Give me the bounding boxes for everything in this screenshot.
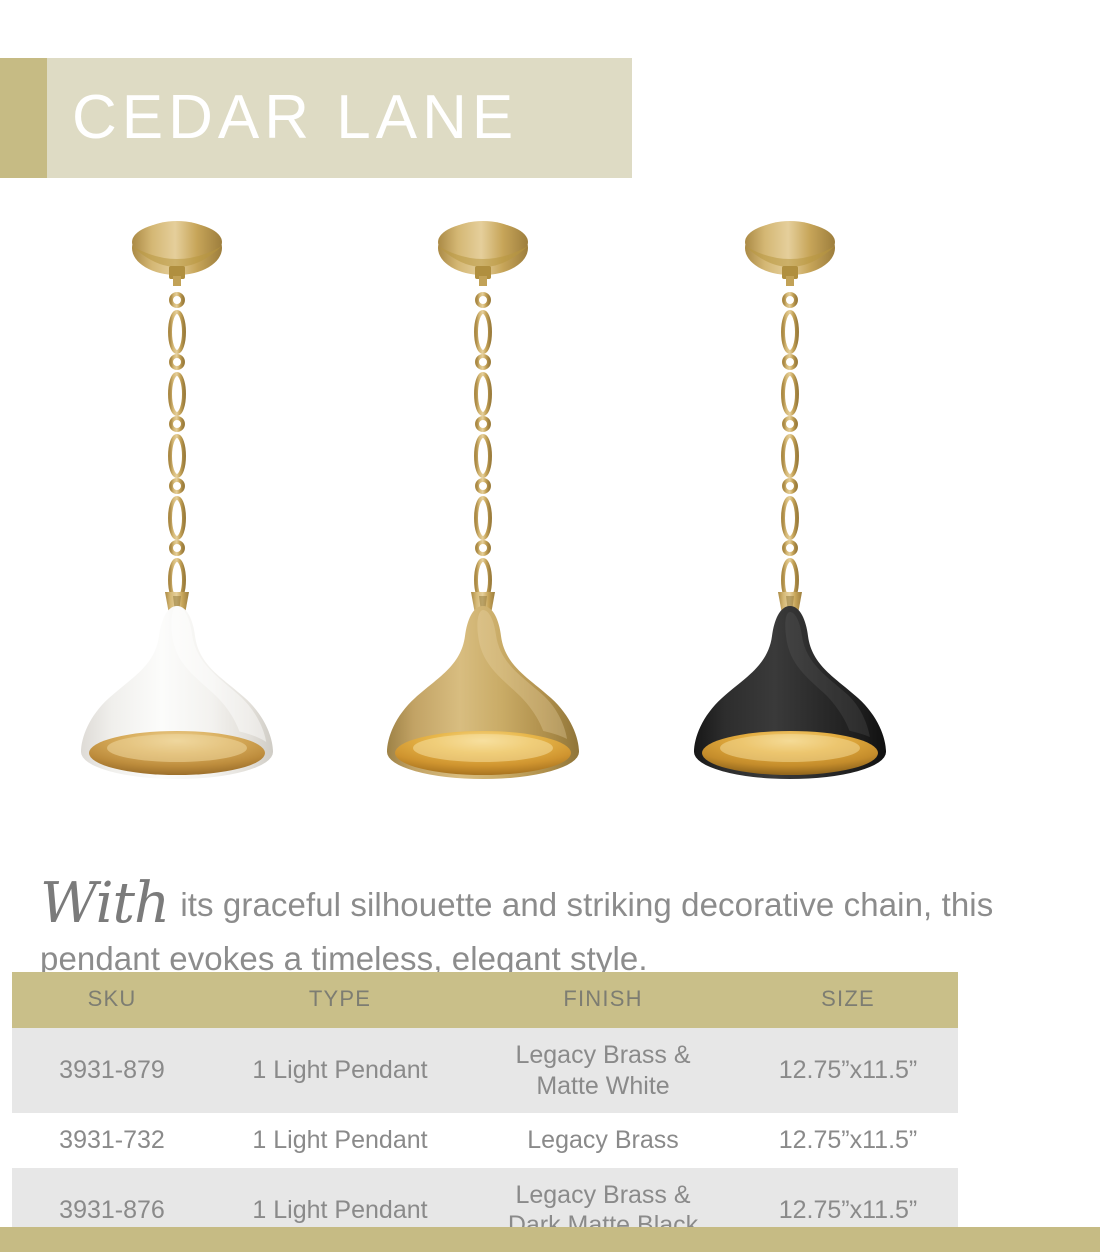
footer-band	[0, 1227, 1100, 1252]
cell-sku: 3931-879	[12, 1028, 212, 1113]
cell-sku: 3931-732	[12, 1113, 212, 1168]
spec-table: SKU TYPE FINISH SIZE 3931-879 1 Light Pe…	[12, 972, 958, 1252]
description-body: its graceful silhouette and striking dec…	[40, 886, 993, 977]
column-header-finish: FINISH	[468, 972, 738, 1028]
header-banner: CEDAR LANE	[0, 58, 632, 178]
cell-size: 12.75”x11.5”	[738, 1113, 958, 1168]
matte-white-pendant	[27, 200, 327, 820]
column-header-sku: SKU	[12, 972, 212, 1028]
table-row: 3931-732 1 Light Pendant Legacy Brass 12…	[12, 1113, 958, 1168]
product-description: With its graceful silhouette and strikin…	[40, 878, 1000, 987]
column-header-size: SIZE	[738, 972, 958, 1028]
table-header-row: SKU TYPE FINISH SIZE	[12, 972, 958, 1028]
product-image-row	[0, 200, 1100, 820]
cell-finish: Legacy Brass	[468, 1113, 738, 1168]
spec-sheet-page: CEDAR LANE	[0, 0, 1100, 1252]
legacy-brass-pendant	[333, 200, 633, 820]
cell-finish: Legacy Brass &Matte White	[468, 1028, 738, 1113]
cell-type: 1 Light Pendant	[212, 1028, 468, 1113]
column-header-type: TYPE	[212, 972, 468, 1028]
table-row: 3931-879 1 Light Pendant Legacy Brass &M…	[12, 1028, 958, 1113]
page-title: CEDAR LANE	[72, 87, 518, 149]
dark-matte-black-pendant	[640, 200, 940, 820]
banner-accent-stripe	[0, 58, 47, 178]
description-drop-cap: With	[40, 871, 169, 936]
cell-size: 12.75”x11.5”	[738, 1028, 958, 1113]
cell-type: 1 Light Pendant	[212, 1113, 468, 1168]
